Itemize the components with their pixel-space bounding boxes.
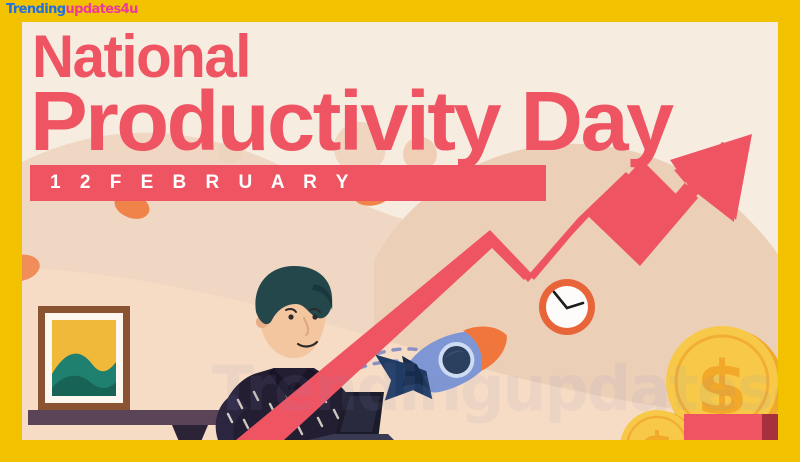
red-box xyxy=(684,414,778,440)
title-block: National Productivity Day 1 2 F E B R U … xyxy=(30,28,770,201)
poster-canvas: $ $ Trendingupdates4u National Productiv… xyxy=(22,22,778,440)
watermark-brand-second: updates4u xyxy=(65,2,137,17)
poster-root: $ $ Trendingupdates4u National Productiv… xyxy=(0,0,800,462)
site-watermark: Trendingupdates4u xyxy=(6,2,138,17)
page-title-line-two: Productivity Day xyxy=(30,82,778,162)
watermark-brand-first: Trending xyxy=(6,2,65,17)
clock xyxy=(539,279,595,335)
framed-picture xyxy=(38,306,130,410)
date-banner-text: 1 2 F E B R U A R Y xyxy=(50,172,355,194)
date-banner: 1 2 F E B R U A R Y xyxy=(30,165,546,201)
svg-text:$: $ xyxy=(640,422,675,440)
